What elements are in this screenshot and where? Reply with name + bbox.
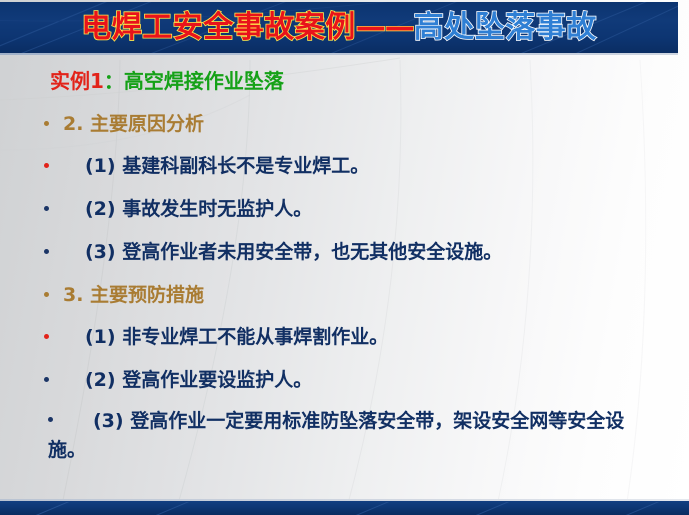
title-dash: —— — [356, 13, 414, 43]
list-item: 3. 主要预防措施 — [44, 286, 204, 305]
list-item-label: (2) 登高作业要设监护人。 — [85, 371, 312, 390]
example-heading: 实例1：高空焊接作业坠落 — [50, 71, 284, 91]
bullet-icon — [44, 377, 49, 382]
list-item: (2) 事故发生时无监护人。 — [44, 200, 312, 219]
list-item: (2) 登高作业要设监护人。 — [44, 371, 312, 390]
list-item: (3) 登高作业者未用安全带，也无其他安全设施。 — [44, 243, 502, 262]
bullet-icon — [48, 417, 53, 422]
list-item-label: 2. 主要原因分析 — [63, 115, 204, 134]
list-item: (1) 非专业焊工不能从事焊割作业。 — [44, 328, 388, 347]
list-item-label: 3. 主要预防措施 — [63, 286, 204, 305]
example-heading-label: 实例1 — [50, 71, 104, 91]
example-heading-text: ：高空焊接作业坠落 — [104, 71, 284, 91]
slide-content: 实例1：高空焊接作业坠落 2. 主要原因分析 (1) 基建科副科长不是专业焊工。… — [0, 55, 689, 499]
bullet-icon — [44, 206, 49, 211]
bullet-icon — [44, 249, 49, 254]
title-subject-text: 高处坠落事故 — [414, 13, 597, 43]
list-item: 2. 主要原因分析 — [44, 115, 204, 134]
slide-title: 电焊工安全事故案例——高处坠落事故 — [0, 2, 678, 53]
list-item-label: (1) 非专业焊工不能从事焊割作业。 — [85, 328, 388, 347]
bottom-band-streaks — [0, 502, 689, 515]
bullet-icon — [44, 121, 49, 126]
bottom-band — [0, 501, 689, 515]
title-main-text: 电焊工安全事故案例 — [81, 13, 356, 43]
list-item: (1) 基建科副科长不是专业焊工。 — [44, 157, 369, 176]
bullet-icon — [44, 334, 49, 339]
list-item-label: (3) 登高作业者未用安全带，也无其他安全设施。 — [85, 243, 502, 262]
list-item: (3) 登高作业一定要用标准防坠落安全带，架设安全网等安全设施。 — [48, 407, 658, 466]
list-item-label: (3) 登高作业一定要用标准防坠落安全带，架设安全网等安全设施。 — [48, 410, 624, 461]
bullet-icon — [44, 292, 49, 297]
list-item-label: (2) 事故发生时无监护人。 — [85, 200, 312, 219]
list-item-label: (1) 基建科副科长不是专业焊工。 — [85, 157, 369, 176]
title-band: 电焊工安全事故案例——高处坠落事故 — [0, 2, 678, 53]
bullet-icon — [44, 163, 49, 168]
slide-canvas: 电焊工安全事故案例——高处坠落事故 实例1：高空焊接作业坠落 2. 主要原因分析… — [0, 0, 689, 515]
